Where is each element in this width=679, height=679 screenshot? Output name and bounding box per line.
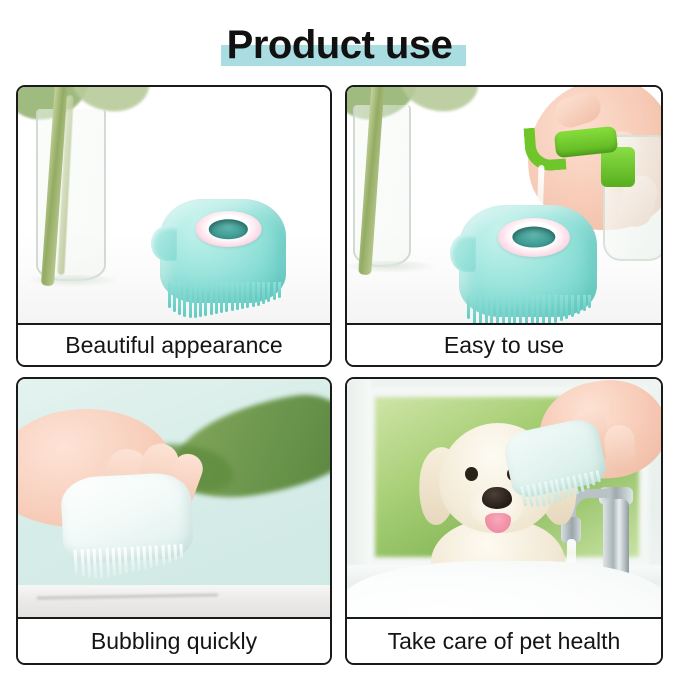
panel-3-caption-text: Bubbling quickly (91, 628, 257, 654)
brush-port (512, 227, 555, 248)
marble-counter (18, 585, 330, 619)
panel-3-photo (18, 379, 330, 619)
brush-port (209, 219, 248, 238)
brush-cap-ring (498, 218, 570, 256)
brush-side-tab (450, 234, 476, 272)
page-title: Product use (0, 16, 679, 74)
window-side-panel (347, 379, 371, 591)
panel-4-photo (347, 379, 661, 619)
panel-1-caption-text: Beautiful appearance (65, 332, 282, 358)
white-brush (60, 472, 194, 565)
panel-1-caption: Beautiful appearance (18, 323, 330, 365)
panel-take-care-of-pet-health[interactable]: Take care of pet health (345, 377, 663, 665)
pump-collar (601, 147, 635, 187)
brush-cap-ring (195, 211, 261, 246)
panel-1-photo (18, 87, 330, 325)
panel-2-caption-text: Easy to use (444, 332, 564, 358)
brush-bristles (467, 295, 591, 325)
silicone-brush (160, 199, 286, 303)
title-text: Product use (227, 23, 453, 67)
puppy-nose (482, 487, 512, 509)
panel-bubbling-quickly[interactable]: Bubbling quickly (16, 377, 332, 665)
panel-2-caption: Easy to use (347, 323, 661, 365)
brush-side-tab (151, 226, 177, 261)
brush-bristles (74, 544, 185, 580)
foam (347, 561, 661, 619)
brush-bristles (168, 282, 281, 317)
finger (603, 424, 636, 474)
panel-easy-to-use[interactable]: Easy to use (345, 85, 663, 367)
puppy-eye (465, 467, 478, 481)
panel-3-caption: Bubbling quickly (18, 617, 330, 663)
silicone-brush (459, 205, 597, 317)
panel-4-caption: Take care of pet health (347, 617, 661, 663)
feature-panel-grid: Beautiful appearance (0, 85, 679, 671)
panel-beautiful-appearance[interactable]: Beautiful appearance (16, 85, 332, 367)
panel-2-photo (347, 87, 661, 325)
panel-4-caption-text: Take care of pet health (388, 628, 621, 654)
